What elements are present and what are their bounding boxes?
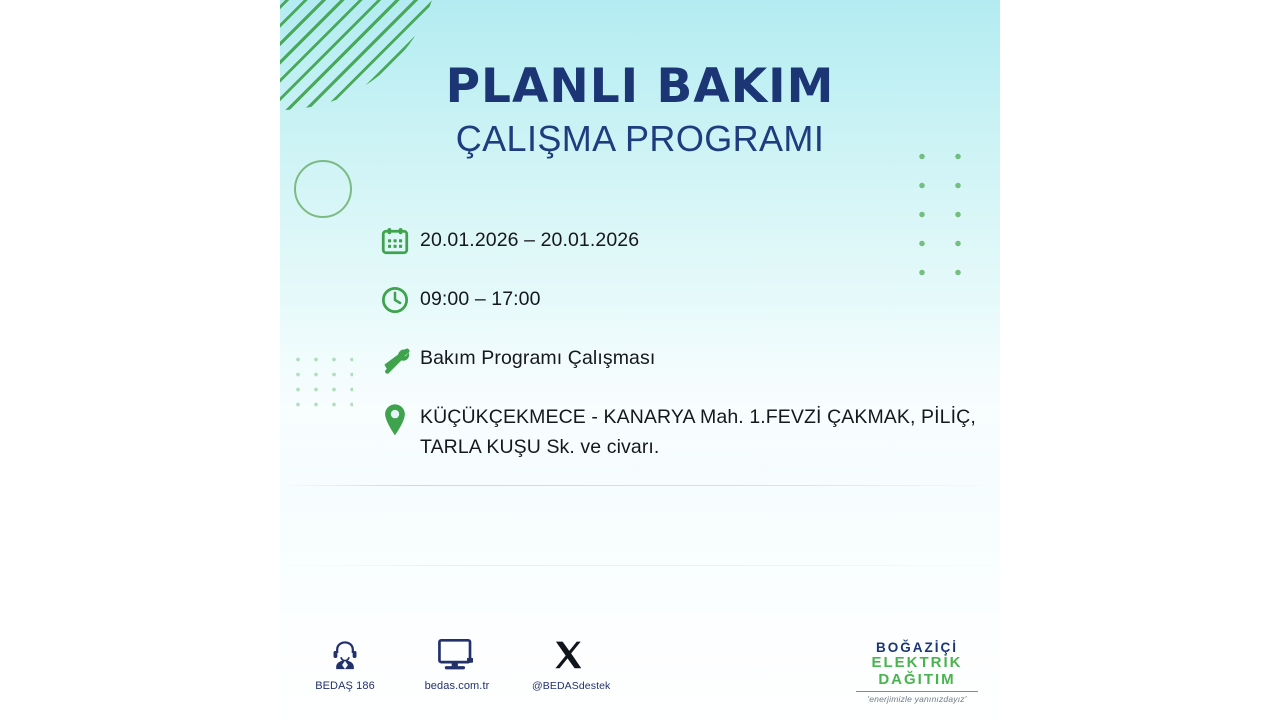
brand-line-bogazici: BOĞAZİÇİ	[852, 640, 982, 655]
detail-work-type-text: Bakım Programı Çalışması	[420, 340, 655, 374]
brand-line-dagitim: DAĞITIM	[852, 672, 982, 689]
contact-call-center-label: BEDAŞ 186	[308, 680, 382, 692]
monitor-icon	[420, 636, 494, 674]
clock-icon	[380, 281, 420, 319]
bedas-logo: BOĞAZİÇİ ELEKTRİK DAĞITIM 'enerjimizle y…	[852, 640, 982, 704]
headset-support-icon	[308, 636, 382, 674]
contact-website-label: bedas.com.tr	[420, 680, 494, 692]
tools-icon	[380, 340, 420, 378]
planned-maintenance-poster: PLANLI BAKIM ÇALIŞMA PROGRAMI	[280, 0, 1000, 720]
poster-heading-block: PLANLI BAKIM ÇALIŞMA PROGRAMI	[280, 62, 1000, 159]
detail-time-text: 09:00 – 17:00	[420, 281, 541, 315]
contact-x-account[interactable]: @BEDASdestek	[532, 636, 606, 692]
page-subtitle: ÇALIŞMA PROGRAMI	[280, 119, 1000, 159]
contact-x-label: @BEDASdestek	[532, 680, 606, 692]
circle-outline-decoration	[294, 160, 352, 218]
dot-grid-decoration-left	[289, 352, 353, 414]
detail-row-time: 09:00 – 17:00	[380, 281, 980, 319]
contact-call-center[interactable]: BEDAŞ 186	[308, 636, 382, 692]
detail-date-text: 20.01.2026 – 20.01.2026	[420, 222, 639, 256]
x-twitter-icon	[532, 636, 606, 674]
detail-row-address: KÜÇÜKÇEKMECE - KANARYA Mah. 1.FEVZİ ÇAKM…	[380, 399, 980, 462]
maintenance-details-list: 20.01.2026 – 20.01.2026 09:00 – 17:00	[380, 222, 980, 462]
calendar-icon	[380, 222, 420, 260]
section-divider-lower	[280, 565, 1000, 566]
detail-row-work-type: Bakım Programı Çalışması	[380, 340, 980, 378]
screenshot-root: PLANLI BAKIM ÇALIŞMA PROGRAMI	[0, 0, 1280, 720]
poster-footer: BEDAŞ 186 bedas.com.tr	[280, 636, 1000, 720]
page-title: PLANLI BAKIM	[280, 62, 1000, 113]
section-divider-upper	[280, 485, 1000, 486]
brand-line-elektrik: ELEKTRİK	[852, 655, 982, 672]
detail-address-text: KÜÇÜKÇEKMECE - KANARYA Mah. 1.FEVZİ ÇAKM…	[420, 399, 980, 462]
contact-website[interactable]: bedas.com.tr	[420, 636, 494, 692]
detail-row-date: 20.01.2026 – 20.01.2026	[380, 222, 980, 260]
brand-underline	[856, 691, 978, 693]
contact-channels: BEDAŞ 186 bedas.com.tr	[308, 636, 606, 692]
location-pin-icon	[380, 399, 420, 437]
brand-tagline: 'enerjimizle yanınızdayız'	[852, 694, 982, 704]
